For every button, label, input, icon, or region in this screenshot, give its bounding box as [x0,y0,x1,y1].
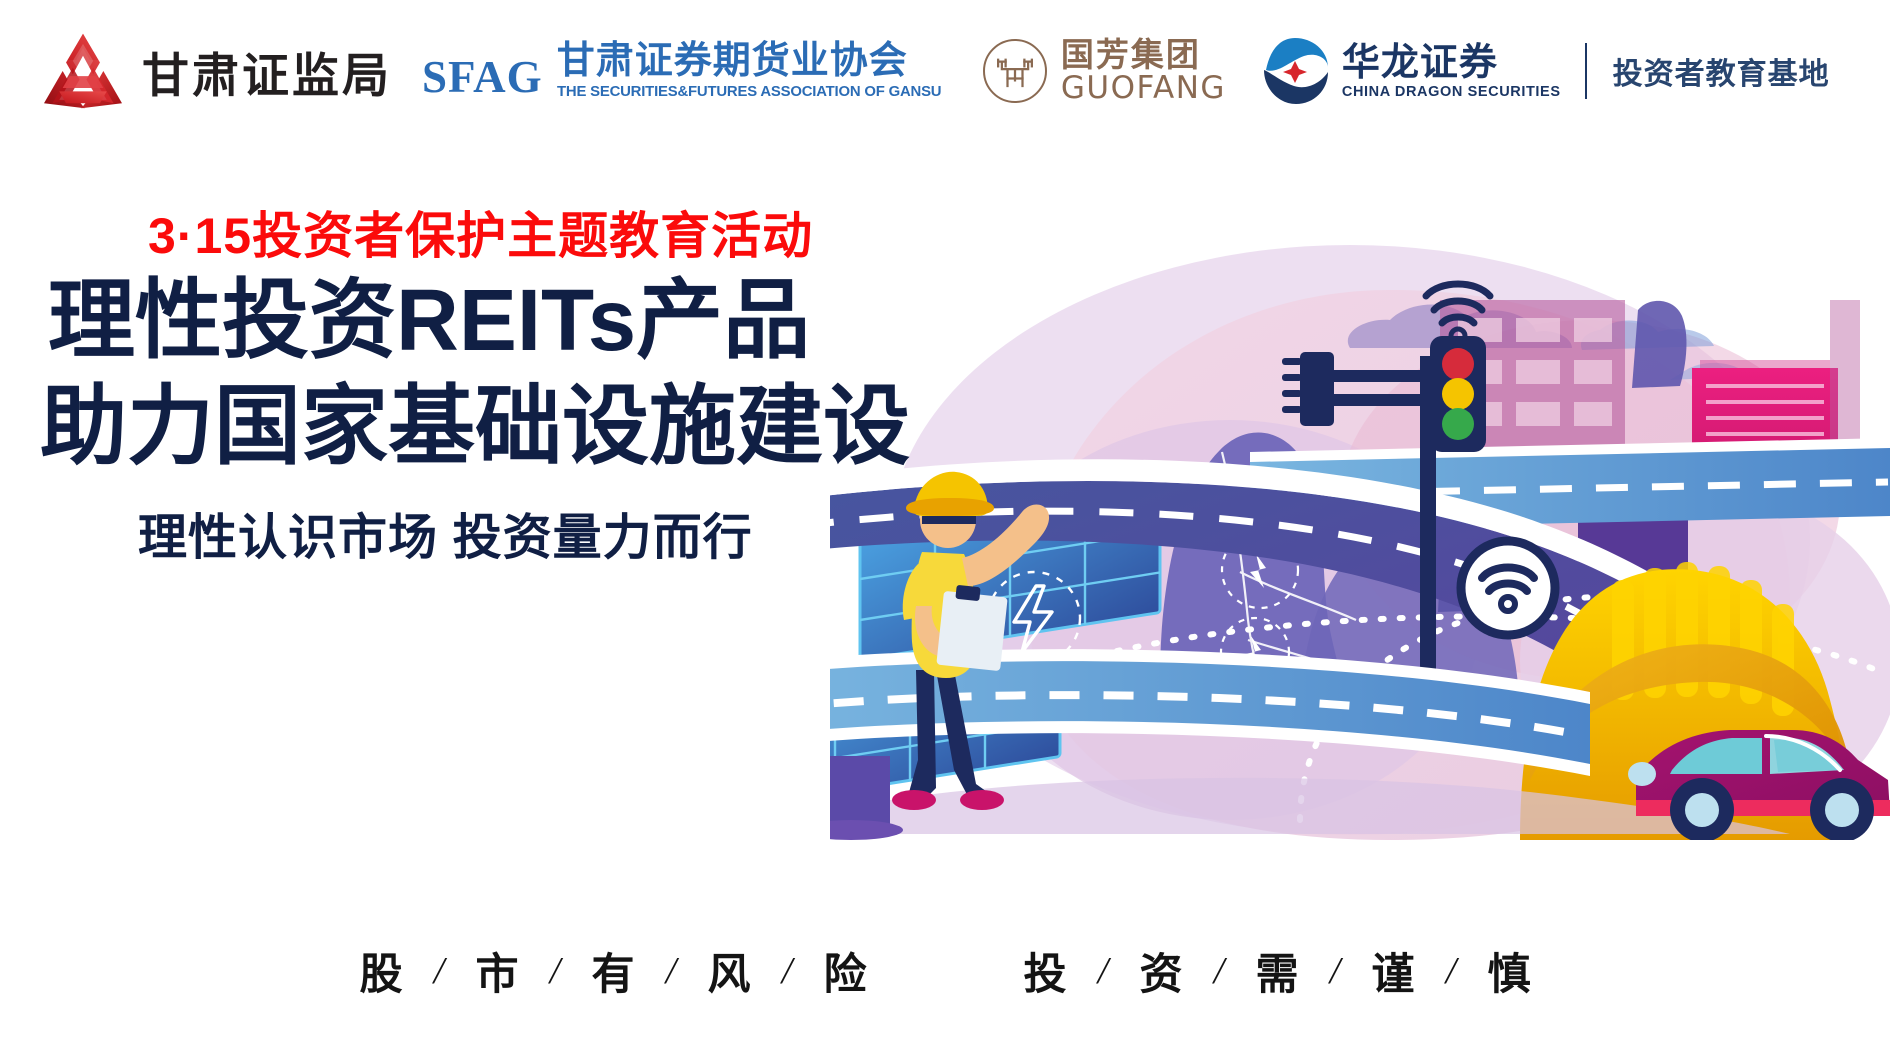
slogan-char: 市 [462,940,532,1002]
slogan-separator: / [648,949,694,993]
slogan-char: 风 [694,940,764,1002]
slogan-char: 需 [1242,940,1312,1002]
slogan-left: 股 / 市 / 有 / 风 / 险 [346,940,880,1002]
slogan-char: 慎 [1474,940,1544,1002]
slogan-char: 有 [578,940,648,1002]
logo-cds-label-en: CHINA DRAGON SECURITIES [1342,85,1561,100]
slogan-char: 险 [810,940,880,1002]
headline-line-1: 理性投资REITs产品 [0,268,860,374]
logo-gansu-csrc: 甘肃证监局 [40,32,392,110]
slogan-char: 资 [1126,940,1196,1002]
kicker-text: 3·15投资者保护主题教育活动 [0,205,860,268]
slogan-char: 投 [1010,940,1080,1002]
logo-sfag-abbr: SFAG [422,55,543,100]
dragon-swoosh-icon [1260,36,1330,106]
logo-sfag-label-en: THE SECURITIES&FUTURES ASSOCIATION OF GA… [557,83,941,100]
slogan-char: 股 [346,940,416,1002]
poster-root: 甘肃证监局 SFAG 甘肃证券期货业协会 THE SECURITIES&FUTU… [0,0,1890,1063]
slogan-separator: / [532,949,578,993]
guofang-deer-circle-icon [983,39,1047,103]
logo-china-dragon-securities: 华龙证券 CHINA DRAGON SECURITIES 投资者教育基地 [1260,36,1830,106]
logo-cds-label-cn: 华龙证券 [1342,43,1561,83]
logo-guofang: 国芳集团 GUOFANG [983,38,1226,104]
logo-sfag: SFAG 甘肃证券期货业协会 THE SECURITIES&FUTURES AS… [422,42,949,100]
logo-guofang-label-cn: 国芳集团 [1061,38,1226,73]
slogan-separator: / [1080,949,1126,993]
bottom-slogan: 股 / 市 / 有 / 风 / 险 投 / 资 / 需 / 谨 / 慎 [0,940,1890,1002]
logo-sfag-label-cn: 甘肃证券期货业协会 [557,42,949,82]
slogan-separator: / [1428,949,1474,993]
slogan-right: 投 / 资 / 需 / 谨 / 慎 [1010,940,1544,1002]
slogan-separator: / [1312,949,1358,993]
logo-cds-sublabel: 投资者教育基地 [1613,49,1830,93]
slogan-separator: / [416,949,462,993]
logo-cds-divider [1585,43,1587,99]
red-interlocking-triangle-icon [40,32,126,110]
slogan-separator: / [764,949,810,993]
headline-subtitle: 理性认识市场 投资量力而行 [0,498,860,569]
slogan-separator: / [1196,949,1242,993]
smart-infrastructure-city-illustration [830,200,1890,840]
logo-bar: 甘肃证监局 SFAG 甘肃证券期货业协会 THE SECURITIES&FUTU… [40,26,1830,116]
headline-block: 3·15投资者保护主题教育活动 理性投资REITs产品 助力国家基础设施建设 理… [0,205,860,569]
logo-gansu-csrc-label: 甘肃证监局 [142,37,392,106]
slogan-char: 谨 [1358,940,1428,1002]
logo-guofang-label-en: GUOFANG [1061,73,1226,104]
headline-line-2: 助力国家基础设施建设 [0,374,860,480]
